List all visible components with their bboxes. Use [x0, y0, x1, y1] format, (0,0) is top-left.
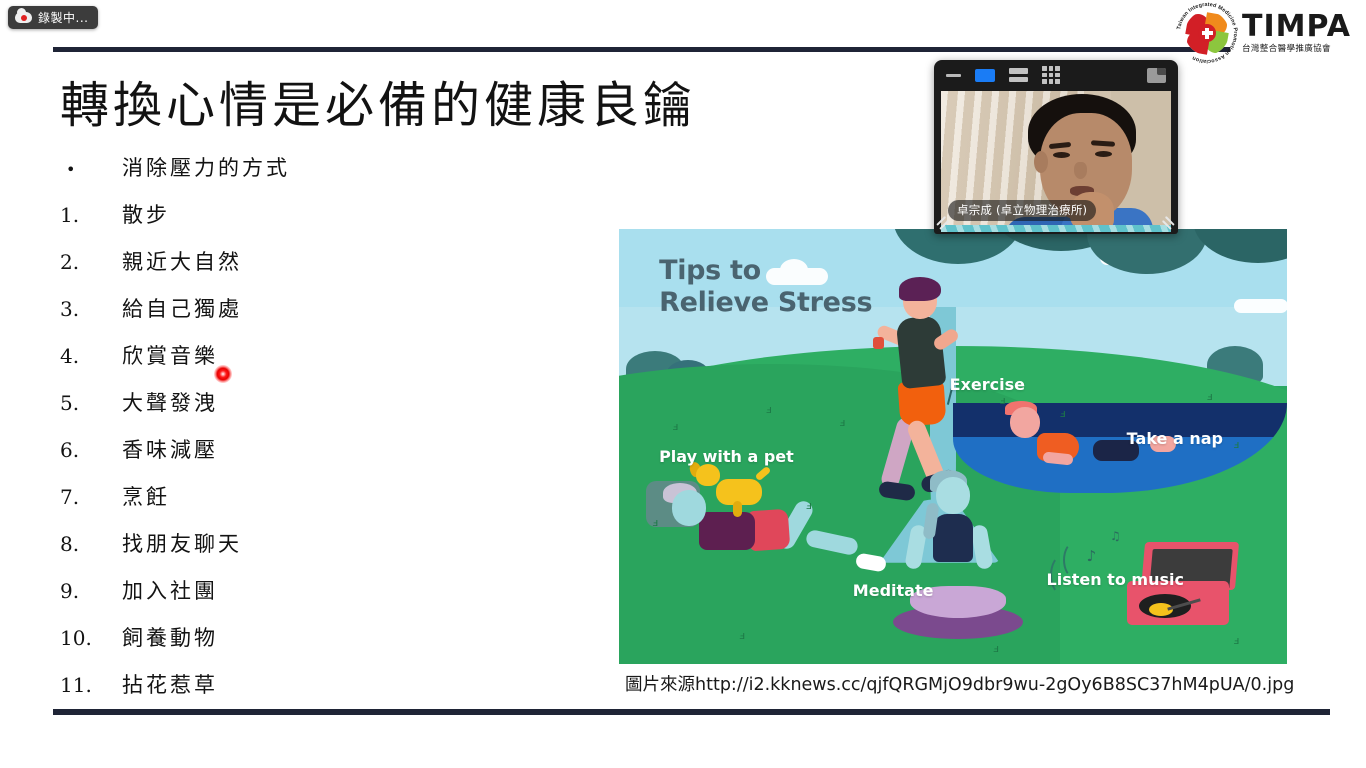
image-source-caption: 圖片來源http://i2.kknews.cc/qjfQRGMjO9dbr9wu… — [625, 671, 1294, 696]
webcam-window[interactable]: 卓宗成 (卓立物理治療所) — [934, 60, 1178, 234]
list-item-text: 飼養動物 — [122, 622, 218, 652]
timpa-acronym: TIMPA — [1242, 12, 1351, 42]
list-item-text: 烹飪 — [122, 481, 170, 511]
resize-handle-right[interactable] — [1164, 217, 1175, 228]
label-meditate: Meditate — [853, 581, 934, 600]
list-item-text: 親近大自然 — [122, 246, 242, 276]
slide-body-list: • 消除壓力的方式 1. 散步 2. 親近大自然 3. 給自己獨處 4. 欣賞音… — [60, 152, 600, 716]
list-item-text: 消除壓力的方式 — [122, 152, 290, 182]
webcam-footer-accent — [941, 225, 1171, 232]
timpa-emblem-icon: Taiwan Integrated Medicine Promotion Ass… — [1176, 2, 1238, 64]
list-item-text: 找朋友聊天 — [122, 528, 242, 558]
list-item-marker: 5. — [60, 391, 122, 415]
resize-handle-left[interactable] — [937, 217, 948, 228]
illustration-title-line2: Relieve Stress — [659, 287, 872, 319]
list-item: 6. 香味減壓 — [60, 434, 600, 481]
list-item: 4. 欣賞音樂 — [60, 340, 600, 387]
list-item: • 消除壓力的方式 — [60, 152, 600, 199]
label-play-with-a-pet: Play with a pet — [659, 447, 794, 466]
list-item: 1. 散步 — [60, 199, 600, 246]
label-listen-to-music: Listen to music — [1047, 570, 1184, 589]
list-item-marker: 9. — [60, 579, 122, 603]
list-item-text: 大聲發洩 — [122, 387, 218, 417]
slide-top-rule — [53, 47, 1230, 52]
timpa-wordmark: TIMPA 台灣整合醫學推廣協會 — [1242, 12, 1351, 54]
music-note-icon: ♫ — [1110, 529, 1121, 543]
illustration-title-line1: Tips to — [659, 255, 872, 287]
list-item-text: 欣賞音樂 — [122, 340, 218, 370]
list-item: 3. 給自己獨處 — [60, 293, 600, 340]
list-item-text: 拈花惹草 — [122, 669, 218, 699]
timpa-logo: Taiwan Integrated Medicine Promotion Ass… — [1176, 0, 1362, 66]
timpa-chinese-name: 台灣整合醫學推廣協會 — [1242, 45, 1351, 54]
label-exercise: Exercise — [950, 375, 1025, 394]
list-item-marker: 2. — [60, 250, 122, 274]
webcam-toolbar — [934, 60, 1178, 90]
recording-label: 錄製中... — [38, 12, 88, 24]
list-item-marker: • — [60, 160, 122, 179]
slideshow-screen: 錄製中... Taiwan Integrated Medicine Promot… — [0, 0, 1366, 768]
list-item-text: 加入社團 — [122, 575, 218, 605]
medical-cross-icon — [1202, 28, 1213, 39]
slide-title: 轉換心情是必備的健康良鑰 — [60, 66, 696, 137]
list-item-text: 香味減壓 — [122, 434, 218, 464]
timpa-core — [1185, 11, 1229, 55]
webcam-video-feed[interactable]: 卓宗成 (卓立物理治療所) — [941, 91, 1171, 227]
list-item-marker: 10. — [60, 626, 122, 650]
music-note-icon: ♪ — [1087, 547, 1097, 565]
list-item: 8. 找朋友聊天 — [60, 528, 600, 575]
list-item-marker: 6. — [60, 438, 122, 462]
laser-pointer — [214, 365, 232, 383]
participant-name-badge: 卓宗成 (卓立物理治療所) — [948, 200, 1096, 221]
list-item-text: 給自己獨處 — [122, 293, 242, 323]
stress-relief-illustration: Tips to Relieve Stress — [619, 229, 1287, 664]
illustration-title: Tips to Relieve Stress — [659, 255, 872, 319]
list-item: 9. 加入社團 — [60, 575, 600, 622]
speaker-view-icon[interactable] — [975, 69, 995, 82]
meditating-figure — [936, 477, 970, 514]
pet-owner-figure — [672, 490, 706, 526]
list-item: 7. 烹飪 — [60, 481, 600, 528]
list-item-marker: 8. — [60, 532, 122, 556]
list-item-marker: 11. — [60, 673, 122, 697]
dog-icon — [696, 464, 720, 486]
recording-indicator[interactable]: 錄製中... — [8, 6, 98, 29]
minimize-icon[interactable] — [946, 74, 961, 77]
label-take-a-nap: Take a nap — [1127, 429, 1223, 448]
list-item-marker: 3. — [60, 297, 122, 321]
list-item-marker: 4. — [60, 344, 122, 368]
recording-cloud-icon — [15, 12, 32, 23]
gallery-split-icon[interactable] — [1009, 68, 1028, 82]
list-item-marker: 7. — [60, 485, 122, 509]
list-item: 2. 親近大自然 — [60, 246, 600, 293]
grid-view-icon[interactable] — [1042, 66, 1060, 84]
popout-icon[interactable] — [1147, 68, 1166, 83]
list-item: 5. 大聲發洩 — [60, 387, 600, 434]
list-item: 11. 拈花惹草 — [60, 669, 600, 716]
napping-figure — [1010, 407, 1040, 438]
list-item: 10. 飼養動物 — [60, 622, 600, 669]
list-item-text: 散步 — [122, 199, 170, 229]
list-item-marker: 1. — [60, 203, 122, 227]
